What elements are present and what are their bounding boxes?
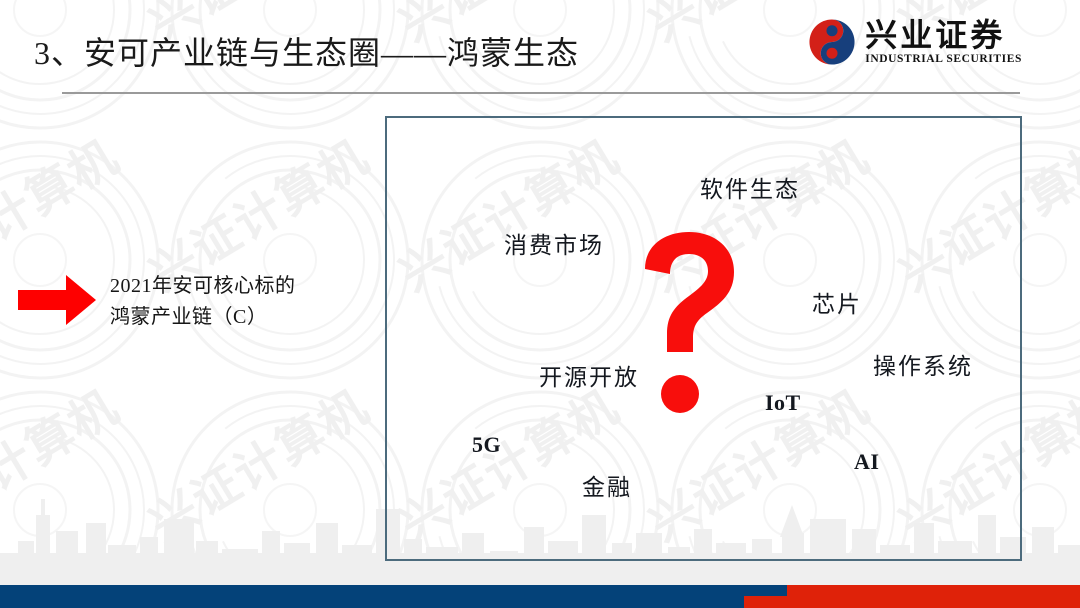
ecosystem-panel-inner: 软件生态消费市场芯片操作系统开源开放IoT5G金融AI: [387, 118, 1020, 559]
logo-english-name: INDUSTRIAL SECURITIES: [865, 54, 1022, 66]
footer-red-bar-top: [787, 585, 1080, 596]
footer-red-bar-bottom: [744, 596, 1080, 608]
ecosystem-keyword: 芯片: [812, 285, 862, 319]
ecosystem-keyword: 消费市场: [504, 226, 604, 260]
watermark-text: 兴证计算机: [134, 369, 380, 554]
ecosystem-keyword: 开源开放: [539, 358, 639, 392]
ecosystem-keyword: 软件生态: [700, 170, 800, 204]
ecosystem-keyword: AI: [854, 449, 879, 475]
ecosystem-keyword: 操作系统: [873, 347, 973, 381]
watermark-text: 兴证计算机: [0, 369, 130, 554]
footer-blue-bar-bottom: [0, 596, 744, 608]
watermark-tile: 兴证计算机: [0, 110, 190, 410]
watermark-rings-icon: [0, 360, 190, 608]
watermark-rings-icon: [0, 110, 190, 410]
ecosystem-panel: 软件生态消费市场芯片操作系统开源开放IoT5G金融AI: [385, 116, 1022, 561]
company-logo: 兴业证券 INDUSTRIAL SECURITIES: [808, 18, 1022, 66]
watermark-tile: 兴证计算机: [0, 360, 190, 608]
footer-blue-bar-top: [0, 585, 787, 596]
red-question-mark-icon: [639, 231, 739, 413]
ecosystem-keyword: 5G: [472, 432, 501, 458]
logo-chinese-name: 兴业证券: [865, 19, 1022, 51]
callout-line-2: 鸿蒙产业链（C）: [110, 302, 296, 333]
callout-text: 2021年安可核心标的 鸿蒙产业链（C）: [110, 271, 296, 333]
ecosystem-keyword: 金融: [582, 468, 632, 502]
ecosystem-keyword: IoT: [765, 390, 801, 416]
title-underline-rule: [62, 92, 1020, 94]
logo-wordmark: 兴业证券 INDUSTRIAL SECURITIES: [865, 19, 1022, 66]
xingye-swirl-logo-icon: [808, 18, 856, 66]
slide-canvas: 兴证计算机兴证计算机兴证计算机兴证计算机兴证计算机兴证计算机兴证计算机兴证计算机…: [0, 0, 1080, 608]
page-title: 3、安可产业链与生态圈——鸿蒙生态: [34, 28, 579, 74]
callout-line-1: 2021年安可核心标的: [110, 271, 296, 302]
red-right-arrow-icon: [18, 275, 96, 325]
